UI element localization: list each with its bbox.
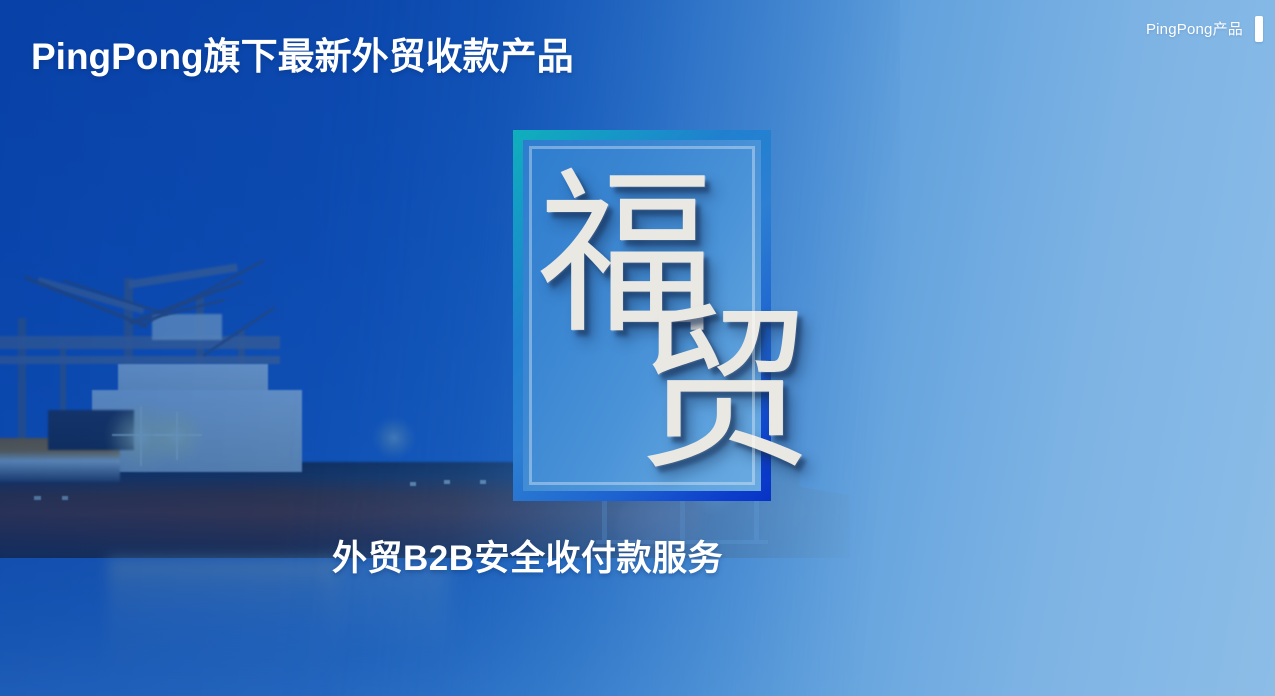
page-subtitle: 外贸B2B安全收付款服务 — [332, 540, 723, 579]
slide-canvas: PingPong产品 PingPong旗下最新外贸收款产品 福 贸 外贸B2B安… — [0, 0, 1275, 696]
topbar: PingPong产品 — [815, 0, 1275, 58]
brand-logo-inner-border — [529, 146, 755, 485]
brand-logo-frame: 福 贸 — [513, 130, 771, 501]
page-title: PingPong旗下最新外贸收款产品 — [31, 38, 574, 75]
product-tag-label: PingPong产品 — [1146, 22, 1243, 37]
vertical-bar-icon — [1255, 16, 1263, 42]
